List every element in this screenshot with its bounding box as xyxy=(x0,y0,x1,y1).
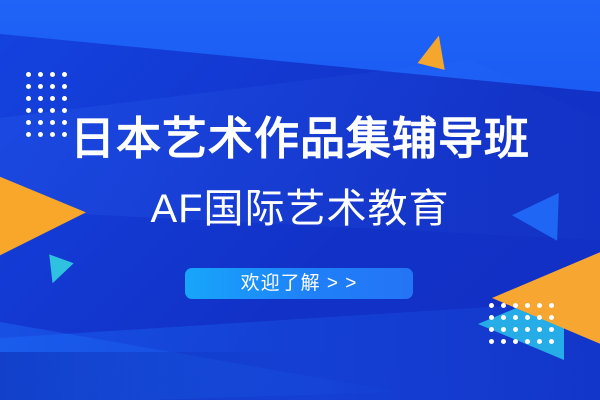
banner-subtitle: AF国际艺术教育 xyxy=(0,185,600,233)
welcome-cta-label: 欢迎了解 > > xyxy=(241,274,358,293)
promo-banner: 日本艺术作品集辅导班 AF国际艺术教育 欢迎了解 > > xyxy=(0,0,600,400)
banner-content: 日本艺术作品集辅导班 AF国际艺术教育 欢迎了解 > > xyxy=(0,0,600,400)
welcome-cta-button[interactable]: 欢迎了解 > > xyxy=(185,268,413,299)
banner-title: 日本艺术作品集辅导班 xyxy=(0,112,600,166)
